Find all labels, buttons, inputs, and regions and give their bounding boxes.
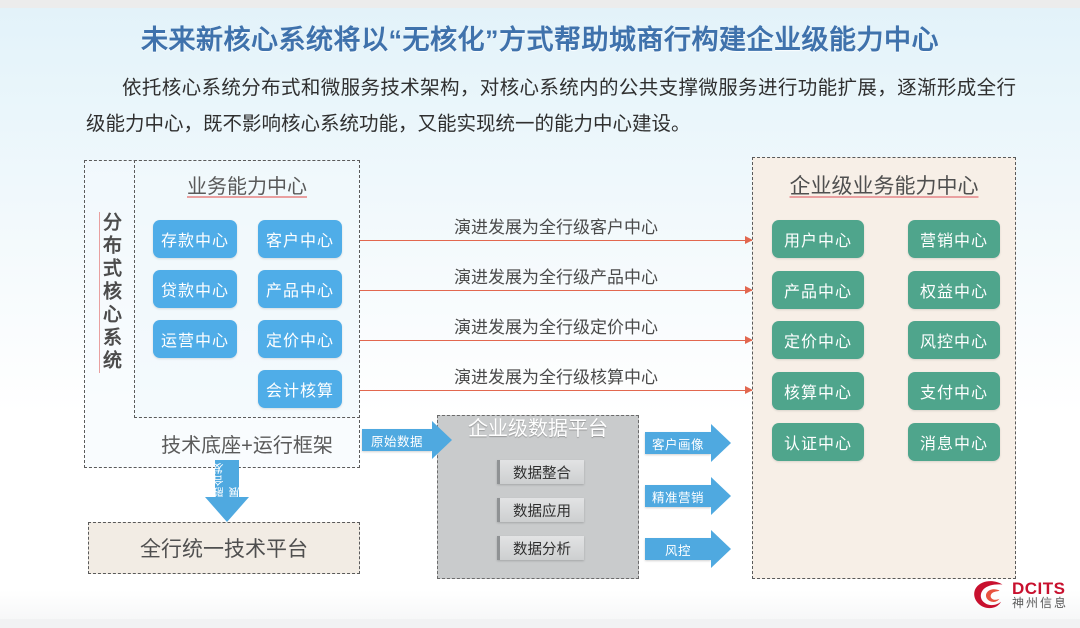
data-item-analysis[interactable]: 数据分析 — [497, 536, 584, 560]
chip-accounting[interactable]: 会计核算 — [258, 370, 342, 408]
business-capability-center-title: 业务能力中心 — [134, 170, 360, 199]
evolution-arrow-3 — [360, 340, 752, 341]
data-platform-title: 企业级数据平台 — [437, 412, 639, 441]
down-arrow-label: 融合发展 — [211, 460, 243, 498]
chip-ent-pricing-center[interactable]: 定价中心 — [772, 321, 864, 359]
company-logo: DCITS 神州信息 — [972, 580, 1068, 610]
raw-data-arrow-label: 原始数据 — [362, 429, 432, 451]
output-arrow-label-1: 客户画像 — [645, 432, 711, 454]
down-arrow-shaft: 融合发展 — [215, 460, 239, 498]
bottom-edge-bar — [0, 619, 1080, 628]
chip-marketing-center[interactable]: 营销中心 — [908, 220, 1000, 258]
evolution-label-2: 演进发展为全行级产品中心 — [360, 263, 752, 288]
evolution-arrow-1 — [360, 240, 752, 241]
arrow-tip-icon — [711, 477, 731, 515]
raw-data-arrow: 原始数据 — [362, 421, 452, 459]
output-arrow-precision-marketing: 精准营销 — [645, 477, 731, 515]
chip-ent-accounting-center[interactable]: 核算中心 — [772, 372, 864, 410]
evolution-label-1: 演进发展为全行级客户中心 — [360, 213, 752, 238]
output-arrow-risk-control: 风控 — [645, 530, 731, 568]
page-subtitle: 依托核心系统分布式和微服务技术架构，对核心系统内的公共支撑微服务进行功能扩展，逐… — [86, 70, 1016, 142]
logo-name-en: DCITS — [1012, 580, 1068, 598]
chip-customer-center[interactable]: 客户中心 — [258, 220, 342, 258]
data-item-integration[interactable]: 数据整合 — [497, 460, 584, 484]
distributed-core-system-label: 分布式核心系统 — [90, 212, 130, 373]
unified-technology-platform: 全行统一技术平台 — [88, 522, 360, 574]
chip-deposit-center[interactable]: 存款中心 — [153, 220, 237, 258]
output-arrow-customer-profile: 客户画像 — [645, 424, 731, 462]
evolution-label-4: 演进发展为全行级核算中心 — [360, 363, 752, 388]
arrow-tip-icon — [711, 424, 731, 462]
chip-pricing-center[interactable]: 定价中心 — [258, 320, 342, 358]
output-arrow-label-2: 精准营销 — [645, 485, 711, 507]
chip-auth-center[interactable]: 认证中心 — [772, 423, 864, 461]
chip-message-center[interactable]: 消息中心 — [908, 423, 1000, 461]
data-item-application[interactable]: 数据应用 — [497, 498, 584, 522]
arrow-tip-icon — [432, 421, 452, 459]
chip-rights-center[interactable]: 权益中心 — [908, 271, 1000, 309]
logo-name-cn: 神州信息 — [1012, 597, 1068, 610]
chip-payment-center[interactable]: 支付中心 — [908, 372, 1000, 410]
chip-ent-product-center[interactable]: 产品中心 — [772, 271, 864, 309]
output-arrow-label-3: 风控 — [645, 538, 711, 560]
chip-product-center[interactable]: 产品中心 — [258, 270, 342, 308]
top-edge-bar — [0, 0, 1080, 8]
swirl-logo-icon — [972, 580, 1006, 610]
chip-loan-center[interactable]: 贷款中心 — [153, 270, 237, 308]
logo-text: DCITS 神州信息 — [1012, 580, 1068, 610]
chip-user-center[interactable]: 用户中心 — [772, 220, 864, 258]
chip-risk-center[interactable]: 风控中心 — [908, 321, 1000, 359]
enterprise-capability-title: 企业级业务能力中心 — [752, 170, 1016, 200]
evolution-arrow-4 — [360, 390, 752, 391]
evolution-arrow-2 — [360, 290, 752, 291]
arrow-tip-icon — [711, 530, 731, 568]
evolution-label-3: 演进发展为全行级定价中心 — [360, 313, 752, 338]
chip-operation-center[interactable]: 运营中心 — [153, 320, 237, 358]
page-title: 未来新核心系统将以“无核化”方式帮助城商行构建企业级能力中心 — [0, 18, 1080, 57]
integration-down-arrow: 融合发展 — [205, 460, 249, 522]
slide-canvas: 未来新核心系统将以“无核化”方式帮助城商行构建企业级能力中心 依托核心系统分布式… — [0, 0, 1080, 628]
down-arrow-tip-icon — [205, 497, 249, 522]
